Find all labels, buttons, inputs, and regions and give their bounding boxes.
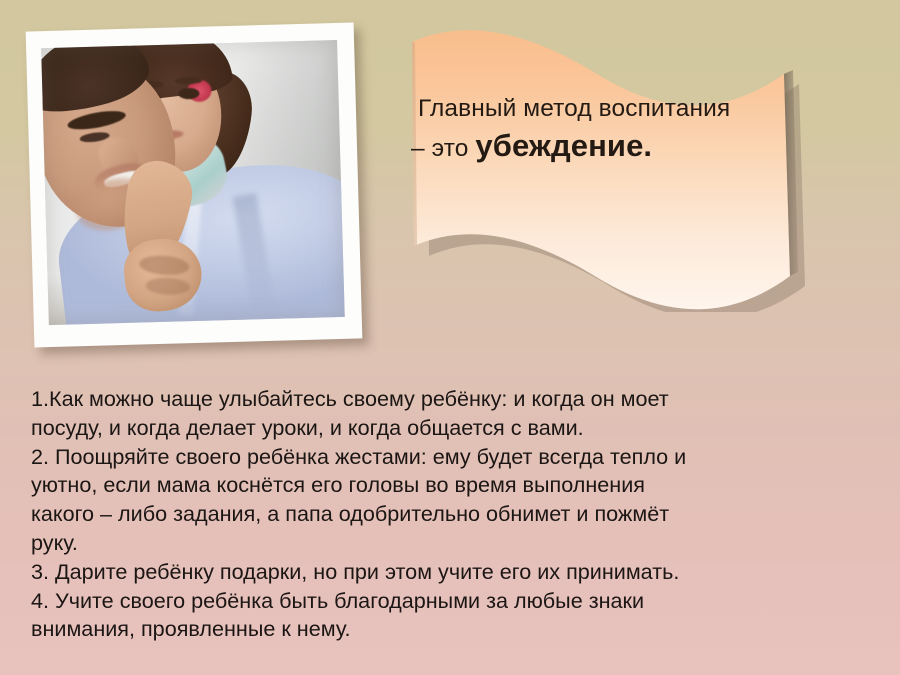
title-line-primary: Главный метод воспитания xyxy=(408,94,808,124)
body-line: посуду, и когда делает уроки, и когда об… xyxy=(31,414,831,443)
title-prefix: – это xyxy=(411,135,475,162)
body-line: 3. Дарите ребёнку подарки, но при этом у… xyxy=(31,558,831,587)
body-line: руку. xyxy=(31,529,831,558)
body-line: 4. Учите своего ребёнка быть благодарным… xyxy=(31,587,831,616)
banner-title-block: Главный метод воспитания – это убеждение… xyxy=(408,94,808,171)
body-line: какого – либо задания, а папа одобритель… xyxy=(31,500,831,529)
title-line-secondary: – это убеждение. xyxy=(408,124,808,171)
body-line: 1.Как можно чаще улыбайтесь своему ребён… xyxy=(31,385,831,414)
body-line: 2. Поощряйте своего ребёнка жестами: ему… xyxy=(31,443,831,472)
body-line: внимания, проявленные к нему. xyxy=(31,615,831,644)
slide-canvas: Главный метод воспитания – это убеждение… xyxy=(0,0,900,675)
title-emphasis: убеждение. xyxy=(475,128,652,163)
title-banner: Главный метод воспитания – это убеждение… xyxy=(398,22,818,312)
photo-frame xyxy=(26,22,363,347)
body-line: уютно, если мама коснётся его головы во … xyxy=(31,471,831,500)
photo-image xyxy=(41,40,345,325)
body-text-block: 1.Как можно чаще улыбайтесь своему ребён… xyxy=(31,385,831,644)
photo-vignette xyxy=(41,40,345,325)
